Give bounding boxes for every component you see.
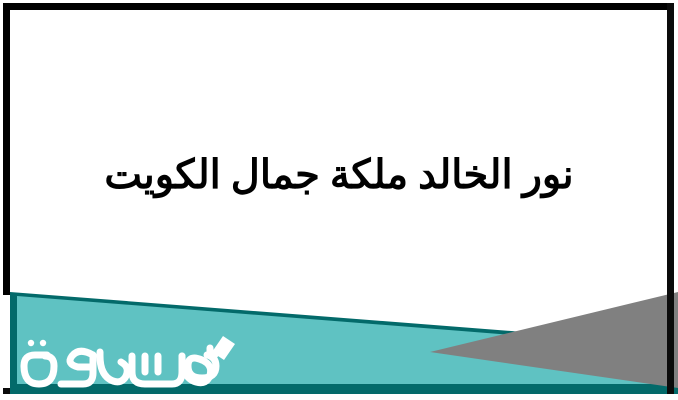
frame-border-left	[3, 3, 10, 295]
frame-border-top	[3, 3, 674, 10]
thumbnail-card: نور الخالد ملكة جمال الكويت	[0, 0, 678, 400]
frame-border-right	[667, 3, 674, 394]
site-logo[interactable]: موسوعة	[14, 330, 236, 392]
